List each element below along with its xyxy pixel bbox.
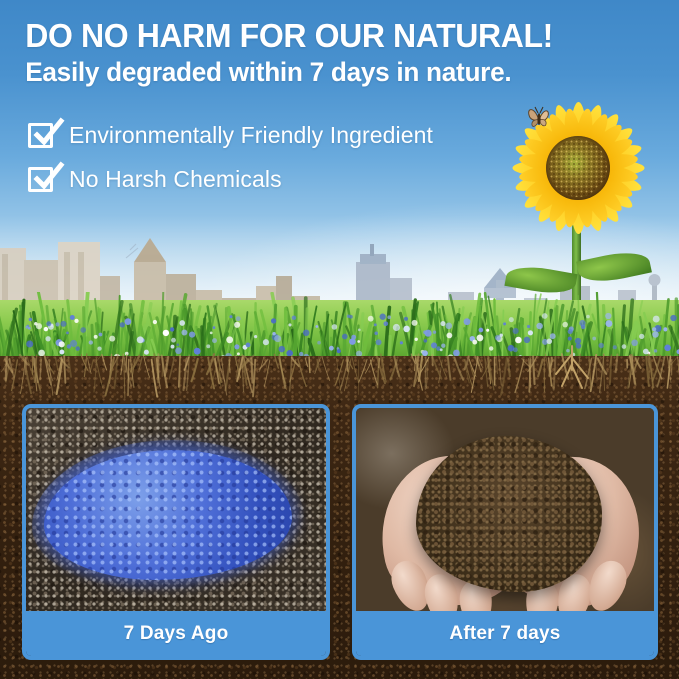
wildflower xyxy=(213,326,216,329)
wildflower xyxy=(351,335,356,340)
grass-roots xyxy=(0,340,679,400)
root-strand xyxy=(322,356,330,380)
sunflower-disc xyxy=(546,136,610,200)
wildflower xyxy=(639,334,644,339)
wildflower xyxy=(447,333,453,339)
root-strand xyxy=(290,356,292,391)
root-strand xyxy=(501,358,507,395)
root-strand xyxy=(554,357,556,390)
root-strand xyxy=(21,357,26,393)
wildflower xyxy=(61,321,67,327)
wildflower xyxy=(433,331,436,334)
wildflower xyxy=(663,327,667,331)
wildflower xyxy=(80,327,86,333)
wildflower xyxy=(189,331,195,337)
root-strand xyxy=(64,356,65,383)
sunflower-taproot xyxy=(556,346,588,388)
root-strand xyxy=(370,360,377,384)
root-strand xyxy=(337,358,342,393)
headline-block: DO NO HARM FOR OUR NATURAL! Easily degra… xyxy=(0,0,679,88)
wildflower xyxy=(374,323,377,326)
wildflower xyxy=(25,326,28,329)
comparison-card-after[interactable]: After 7 days xyxy=(352,404,658,660)
wildflower xyxy=(125,318,132,325)
root-strand xyxy=(56,357,58,369)
wildflower xyxy=(513,328,519,334)
root-strand xyxy=(538,360,543,377)
wildflower xyxy=(440,321,445,326)
wildflower xyxy=(120,322,125,327)
root-strand xyxy=(496,357,497,374)
wildflower xyxy=(28,327,31,330)
wildflower xyxy=(425,330,432,337)
poster: DO NO HARM FOR OUR NATURAL! Easily degra… xyxy=(0,0,679,679)
root-strand xyxy=(298,359,306,386)
wildflower xyxy=(464,318,471,325)
wildflower xyxy=(445,322,452,329)
root-strand xyxy=(253,360,255,397)
root-strand xyxy=(184,359,187,390)
root-strand xyxy=(91,360,94,370)
checkbox-checked-icon xyxy=(28,123,53,148)
root-strand xyxy=(427,360,429,389)
wildflower xyxy=(479,328,484,333)
page-subtitle: Easily degraded within 7 days in nature. xyxy=(0,54,659,88)
wildflower xyxy=(272,332,275,335)
before-caption: 7 Days Ago xyxy=(26,611,326,656)
root-strand xyxy=(88,358,92,374)
wildflower xyxy=(46,321,51,326)
wildflower xyxy=(527,325,530,328)
check-glyph xyxy=(33,120,63,150)
wildflower xyxy=(332,324,338,330)
root-strand xyxy=(82,356,89,370)
root-strand xyxy=(139,357,142,369)
wildflower xyxy=(562,322,568,328)
wildflower xyxy=(509,317,514,322)
wildflower xyxy=(98,333,102,337)
page-title: DO NO HARM FOR OUR NATURAL! xyxy=(0,0,659,54)
wildflower xyxy=(579,320,585,326)
wildflower xyxy=(393,324,400,331)
wildflower xyxy=(36,323,42,329)
root-strand xyxy=(603,354,604,390)
wildflower xyxy=(374,332,378,336)
wildflower xyxy=(342,334,348,340)
wildflower xyxy=(229,315,232,318)
list-item: No Harsh Chemicals xyxy=(28,157,548,201)
root-strand xyxy=(359,360,367,383)
wildflower xyxy=(383,321,388,326)
root-strand xyxy=(448,357,451,380)
list-item-label: No Harsh Chemicals xyxy=(69,167,282,192)
wildflower xyxy=(652,331,659,338)
wildflower xyxy=(387,315,391,319)
root-strand xyxy=(96,359,103,387)
root-strand xyxy=(144,356,150,378)
wildflower xyxy=(153,320,157,324)
wildflower xyxy=(44,327,48,331)
wildflower xyxy=(316,325,319,328)
wildflower xyxy=(163,330,169,336)
wildflower xyxy=(236,316,241,321)
root-strand xyxy=(305,358,307,367)
wildflower xyxy=(503,322,506,325)
root-strand xyxy=(252,359,253,383)
wildflower xyxy=(652,327,656,331)
wildflower xyxy=(74,319,78,323)
list-item: Environmentally Friendly Ingredient xyxy=(28,113,548,157)
wildflower xyxy=(271,318,276,323)
wildflower xyxy=(292,316,297,321)
root-strand xyxy=(40,359,41,380)
wildflower xyxy=(234,322,240,328)
root-strand xyxy=(415,358,416,370)
checkbox-checked-icon xyxy=(28,167,53,192)
root-strand xyxy=(102,355,107,370)
after-caption-label: After 7 days xyxy=(449,623,560,645)
wildflower xyxy=(66,332,69,335)
root-strand xyxy=(94,359,97,392)
wildflower xyxy=(56,322,60,326)
wildflower xyxy=(605,320,612,327)
root-strand xyxy=(616,355,618,373)
sunflower-leaf-right xyxy=(576,247,652,287)
wildflower xyxy=(568,329,573,334)
before-photo xyxy=(26,408,326,615)
root-strand xyxy=(222,359,227,395)
wildflower xyxy=(170,327,174,331)
feature-list: Environmentally Friendly Ingredient No H… xyxy=(28,113,548,201)
list-item-label: Environmentally Friendly Ingredient xyxy=(69,123,433,148)
after-caption: After 7 days xyxy=(356,611,654,656)
comparison-card-before[interactable]: 7 Days Ago xyxy=(22,404,330,660)
wildflower xyxy=(254,335,257,338)
wildflower xyxy=(486,329,489,332)
wildflower xyxy=(542,313,548,319)
check-glyph xyxy=(33,164,63,194)
wildflower xyxy=(403,326,410,333)
wildflower xyxy=(210,332,213,335)
wildflower xyxy=(94,335,98,339)
wildflower xyxy=(288,323,291,326)
soil-handful xyxy=(416,436,602,592)
wildflower xyxy=(536,323,543,330)
wildflower xyxy=(404,317,408,321)
root-strand xyxy=(274,354,278,368)
root-strand xyxy=(12,360,18,391)
root-strand xyxy=(279,355,285,388)
wildflower xyxy=(179,320,185,326)
root-strand xyxy=(121,354,124,375)
before-caption-label: 7 Days Ago xyxy=(124,623,229,645)
wildflower xyxy=(358,329,361,332)
root-strand xyxy=(165,357,168,376)
root-strand xyxy=(340,359,348,389)
wildflower xyxy=(181,330,187,336)
root-strand xyxy=(105,358,114,396)
root-strand xyxy=(499,356,502,385)
wildflower xyxy=(303,330,310,337)
wildflower xyxy=(70,315,75,320)
wildflower xyxy=(368,316,374,322)
root-strand xyxy=(508,359,510,376)
wildflower xyxy=(412,320,418,326)
root-strand xyxy=(169,358,174,379)
root-strand xyxy=(192,359,198,381)
wildflower xyxy=(670,315,676,321)
wildflower xyxy=(29,318,33,322)
root-strand xyxy=(432,355,433,365)
root-strand xyxy=(515,359,524,392)
root-strand xyxy=(124,360,125,398)
after-photo xyxy=(356,408,654,615)
wildflower xyxy=(605,313,611,319)
root-strand xyxy=(596,359,597,381)
root-strand xyxy=(455,358,464,380)
wildflower xyxy=(528,330,533,335)
root-strand xyxy=(530,355,531,364)
wildflower xyxy=(380,314,386,320)
wildflower xyxy=(586,315,590,319)
wildflower xyxy=(653,316,660,323)
wildflower xyxy=(347,315,350,318)
root-strand xyxy=(309,357,310,372)
wildflower xyxy=(550,333,556,339)
